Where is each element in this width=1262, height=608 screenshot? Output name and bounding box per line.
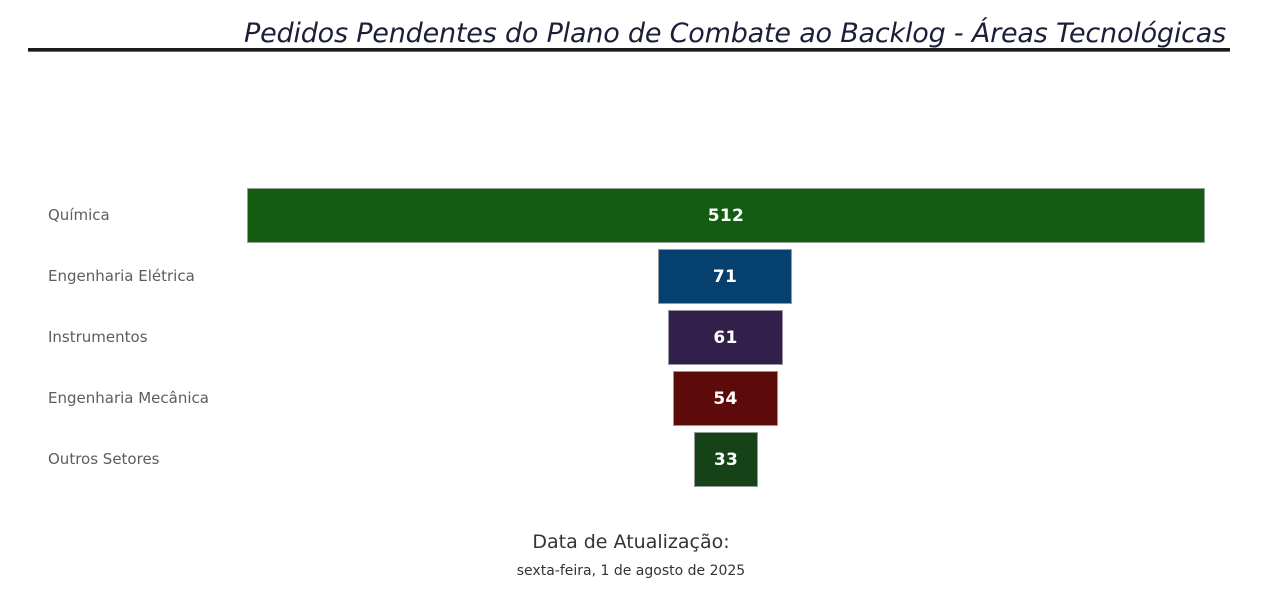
category-label-engenharia-eletrica: Engenharia Elétrica	[48, 249, 195, 304]
funnel-row: Química 512	[0, 188, 1262, 243]
title-block: Pedidos Pendentes do Plano de Combate ao…	[0, 18, 1262, 49]
title-divider	[28, 48, 1230, 52]
funnel-row: Instrumentos 61	[0, 310, 1262, 365]
bar-value-label: 54	[713, 389, 737, 409]
category-label-engenharia-mecanica: Engenharia Mecânica	[48, 371, 209, 426]
funnel-bar-quimica[interactable]: 512	[247, 188, 1205, 243]
footer-block: Data de Atualização: sexta-feira, 1 de a…	[0, 530, 1262, 580]
funnel-bar-outros-setores[interactable]: 33	[694, 432, 758, 487]
category-label-quimica: Química	[48, 188, 110, 243]
page-title: Pedidos Pendentes do Plano de Combate ao…	[0, 18, 1262, 49]
update-date-value: sexta-feira, 1 de agosto de 2025	[0, 562, 1262, 580]
funnel-row: Engenharia Mecânica 54	[0, 371, 1262, 426]
funnel-row: Outros Setores 33	[0, 432, 1262, 487]
bar-value-label: 71	[713, 267, 737, 287]
update-date-label: Data de Atualização:	[0, 530, 1262, 556]
bar-value-label: 61	[713, 328, 737, 348]
bar-value-label: 512	[708, 206, 744, 226]
bar-value-label: 33	[714, 450, 738, 470]
funnel-bar-instrumentos[interactable]: 61	[668, 310, 783, 365]
funnel-bar-engenharia-eletrica[interactable]: 71	[658, 249, 792, 304]
category-label-instrumentos: Instrumentos	[48, 310, 148, 365]
funnel-bar-engenharia-mecanica[interactable]: 54	[673, 371, 778, 426]
funnel-chart: Química 512 Engenharia Elétrica 71 Instr…	[0, 188, 1262, 488]
category-label-outros-setores: Outros Setores	[48, 432, 159, 487]
funnel-row: Engenharia Elétrica 71	[0, 249, 1262, 304]
